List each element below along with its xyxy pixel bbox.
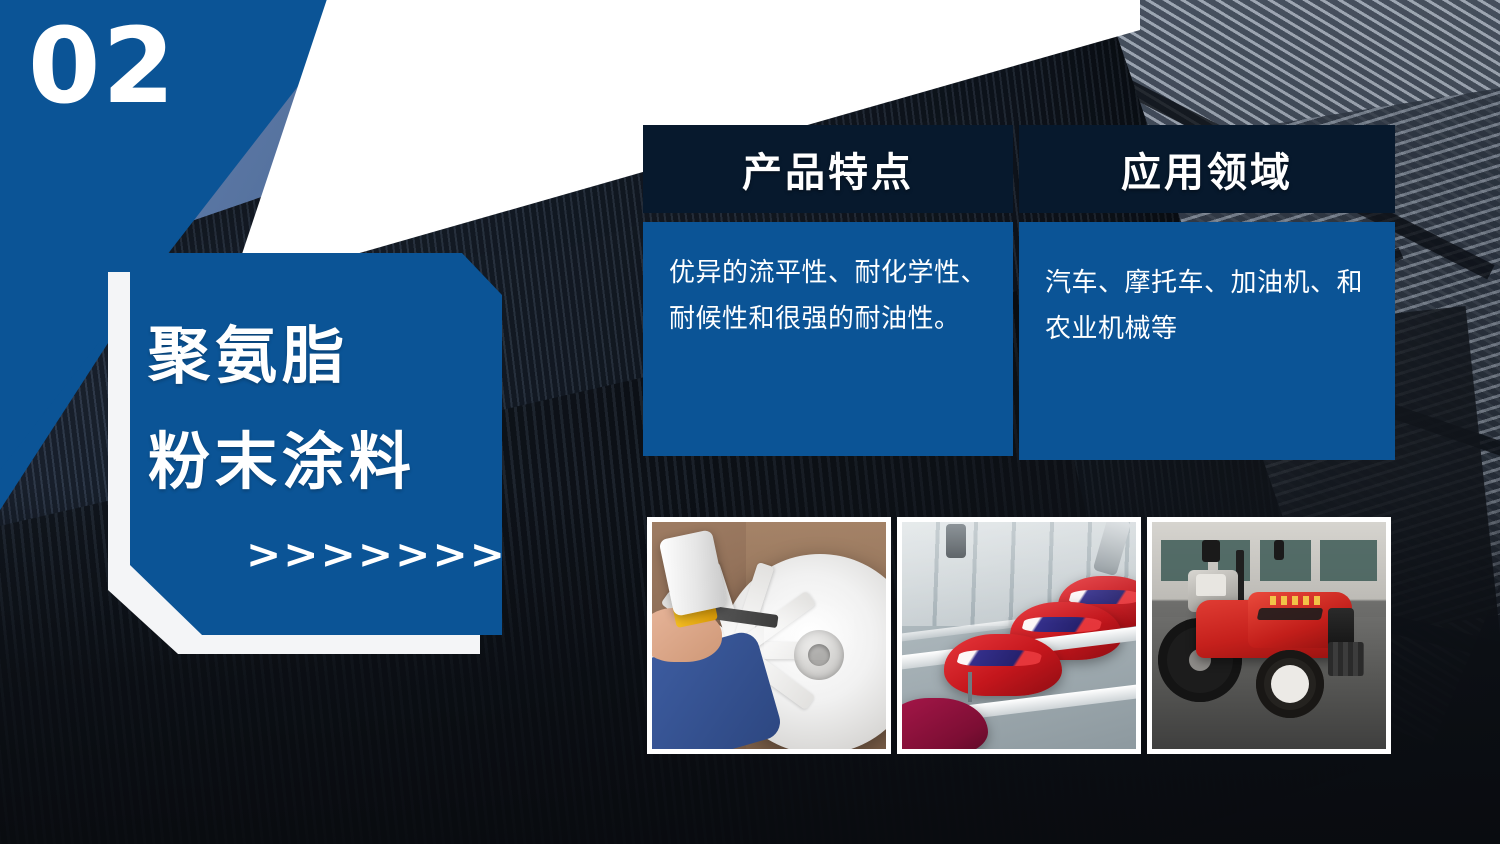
card-body-text: 汽车、摩托车、加油机、和农业机械等 xyxy=(1045,260,1371,353)
card-body-application-fields: 汽车、摩托车、加油机、和农业机械等 xyxy=(1019,222,1395,460)
slide-canvas: 02 聚氨脂 粉末涂料 >>>>>>>>> 产品特点 优异的流平性、耐化学性、耐… xyxy=(0,0,1500,844)
title-line-1: 聚氨脂 xyxy=(148,325,349,387)
card-body-product-features: 优异的流平性、耐化学性、耐候性和很强的耐油性。 xyxy=(643,222,1013,456)
photo-strip xyxy=(647,517,1391,754)
card-heading-text: 产品特点 xyxy=(742,140,914,198)
info-card-group: 产品特点 优异的流平性、耐化学性、耐候性和很强的耐油性。 应用领域 汽车、摩托车… xyxy=(643,125,1395,460)
card-header-application-fields: 应用领域 xyxy=(1019,125,1395,213)
card-heading-text: 应用领域 xyxy=(1121,140,1293,198)
photo-red-tractor xyxy=(1147,517,1391,754)
title-card: 聚氨脂 粉末涂料 >>>>>>>>> xyxy=(130,253,502,635)
section-number: 02 xyxy=(28,14,177,118)
card-application-fields: 应用领域 汽车、摩托车、加油机、和农业机械等 xyxy=(1019,125,1395,460)
photo-motorcycle-tanks-coating-line xyxy=(897,517,1141,754)
title-line-2: 粉末涂料 xyxy=(148,431,416,493)
tractor-front-wheel xyxy=(1256,650,1324,718)
photo-spray-gun-alloy-wheel xyxy=(647,517,891,754)
card-product-features: 产品特点 优异的流平性、耐化学性、耐候性和很强的耐油性。 xyxy=(643,125,1013,456)
card-header-product-features: 产品特点 xyxy=(643,125,1013,213)
card-body-text: 优异的流平性、耐化学性、耐候性和很强的耐油性。 xyxy=(669,250,989,343)
